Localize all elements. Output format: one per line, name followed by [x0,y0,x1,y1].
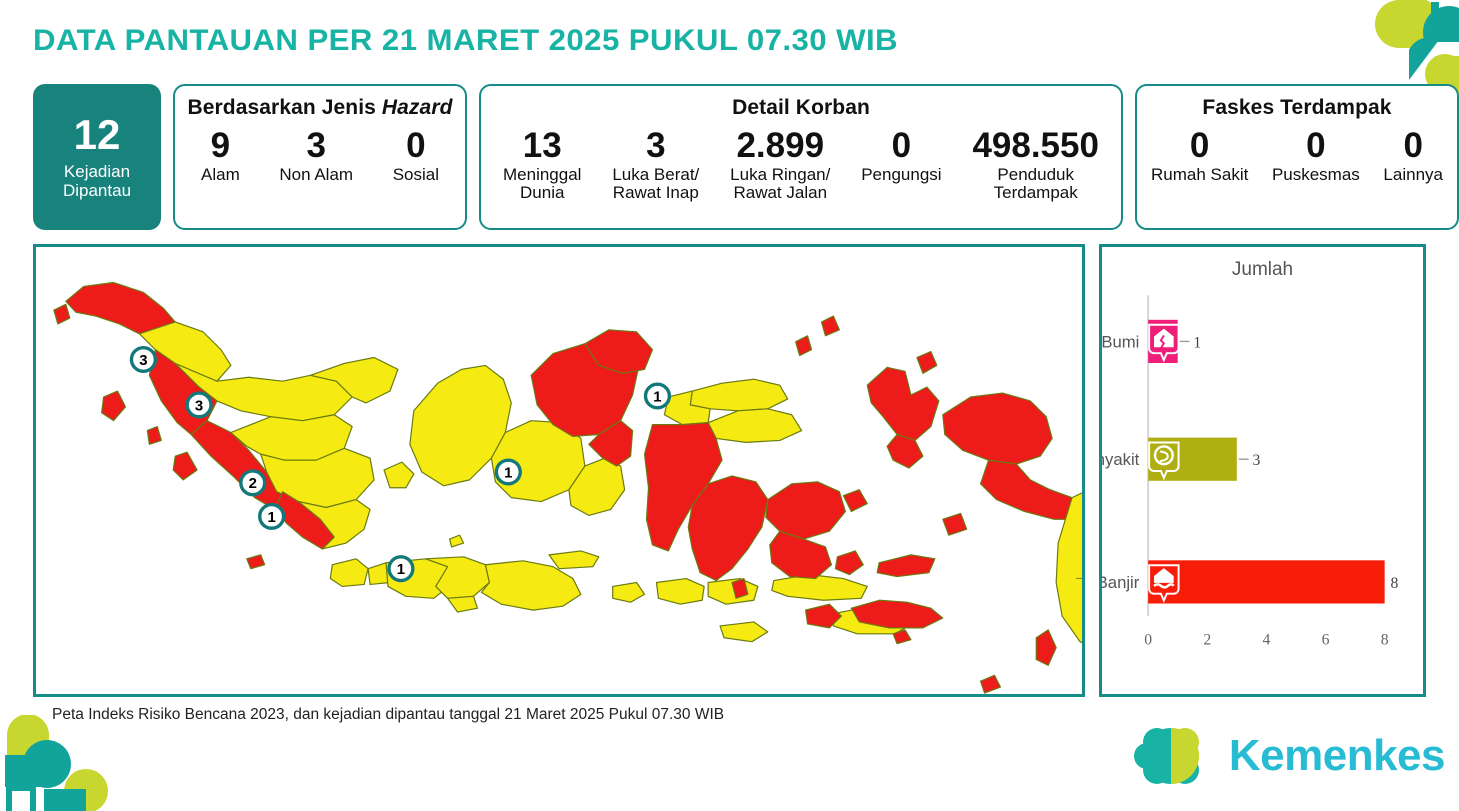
province-papua-barat-red [943,393,1052,464]
chart-x-axis-ticks: 02468 [1144,632,1389,649]
metric-luka-berat-label: Luka Berat/ Rawat Inap [612,166,699,203]
bar-2[interactable] [1148,560,1385,603]
metric-alam: 9 Alam [201,128,240,184]
island-sula [877,555,935,577]
metric-non-alam-label: Non Alam [279,166,353,185]
island-buton [835,551,863,575]
metric-non-alam-value: 3 [306,128,325,164]
card-detail-korban: Detail Korban 13 Meninggal Dunia 3 Luka … [479,84,1123,230]
page-title: DATA PANTAUAN PER 21 MARET 2025 PUKUL 07… [33,24,898,58]
metric-puskesmas-label: Puskesmas [1272,166,1360,185]
island-aru [1036,630,1056,666]
metric-pengungsi-value: 0 [892,128,911,164]
x-tick-4: 8 [1381,632,1389,649]
marker-aceh-count: 3 [139,353,147,369]
kemenkes-brand-text: Kemenkes [1229,731,1445,781]
island-halmahera-south [887,434,923,468]
marker-sulawesi-utara-count: 1 [653,389,661,405]
metric-luka-ringan-label-line1: Luka Ringan/ [730,165,830,184]
metric-meninggal-dunia-value: 13 [523,128,562,164]
card-korban-title: Detail Korban [481,96,1121,120]
footer-caption: Peta Indeks Risiko Bencana 2023, dan kej… [52,706,724,724]
kejadian-label: Kejadian Dipantau [63,162,131,200]
metric-rumah-sakit-value: 0 [1190,128,1209,164]
island-simeulue [54,304,70,324]
marker-lampung[interactable]: 1 [260,505,284,529]
province-bali [613,582,645,602]
province-sumba [720,622,768,642]
indonesia-risk-map[interactable]: 3321111 [36,247,1082,694]
metric-luka-berat-value: 3 [646,128,665,164]
bar-value-label-2: 8 [1391,575,1399,592]
map-panel-indonesia[interactable]: 3321111 [33,244,1085,697]
chart-panel-jumlah: Jumlah Gempa Bumi1KLB-Penyakit3Banjir8 0… [1099,244,1426,697]
map-land-shapes [54,283,1082,694]
hazard-metrics: 9 Alam 3 Non Alam 0 Sosial [175,128,465,184]
metric-meninggal-dunia-label: Meninggal Dunia [503,166,581,203]
province-madura [549,551,599,569]
card-hazard-title-emphasis: Hazard [382,96,453,119]
island-enggano [247,555,265,569]
korban-metrics: 13 Meninggal Dunia 3 Luka Berat/ Rawat I… [481,128,1121,203]
province-ntt-flores [772,575,867,601]
marker-jawa[interactable]: 1 [389,557,413,581]
island-nias [102,391,126,421]
faskes-metrics: 0 Rumah Sakit 0 Puskesmas 0 Lainnya [1137,128,1457,184]
card-kejadian-dipantau: 12 Kejadian Dipantau [33,84,161,230]
chart-bars-group[interactable]: Gempa Bumi1KLB-Penyakit3Banjir8 [1102,320,1399,604]
island-sangihe [796,336,812,356]
metric-sosial: 0 Sosial [393,128,439,184]
metric-puskesmas-value: 0 [1306,128,1325,164]
x-tick-1: 2 [1203,632,1211,649]
card-hazard-title: Berdasarkan Jenis Hazard [175,96,465,120]
metric-penduduk-terdampak-value: 498.550 [972,128,1099,164]
province-sulteng-east-red [766,482,846,539]
metric-sosial-value: 0 [406,128,425,164]
metric-penduduk-terdampak-label-line1: Penduduk [997,165,1074,184]
marker-aceh[interactable]: 3 [131,348,155,372]
marker-sumsel-count: 2 [249,476,257,492]
metric-lainnya-value: 0 [1403,128,1422,164]
x-tick-2: 4 [1262,632,1270,649]
marker-sulawesi-utara[interactable]: 1 [646,384,670,408]
metric-meninggal-dunia-label-line2: Dunia [520,183,564,202]
metric-lainnya-label: Lainnya [1383,166,1443,185]
province-banten [330,559,368,587]
island-mentawai-2 [173,452,197,480]
x-tick-3: 6 [1322,632,1330,649]
marker-sumut[interactable]: 3 [187,393,211,417]
metric-rumah-sakit: 0 Rumah Sakit [1151,128,1248,184]
province-maluku-utara-halmahera [867,367,939,440]
metric-alam-value: 9 [211,128,230,164]
kemenkes-logo-icon [1127,719,1219,793]
kejadian-label-line2: Dipantau [63,181,131,200]
metric-penduduk-terdampak: 498.550 Penduduk Terdampak [972,128,1099,203]
province-sulut [690,379,787,411]
card-faskes-terdampak: Faskes Terdampak 0 Rumah Sakit 0 Puskesm… [1135,84,1459,230]
island-mentawai-1 [147,427,161,445]
bar-category-label-1: KLB-Penyakit [1102,450,1140,469]
x-tick-0: 0 [1144,632,1152,649]
card-hazard-title-prefix: Berdasarkan Jenis [187,96,381,119]
metric-luka-ringan-label-line2: Rawat Jalan [733,183,827,202]
marker-lampung-count: 1 [267,510,275,526]
metric-meninggal-dunia: 13 Meninggal Dunia [503,128,581,203]
marker-kalimantan-count: 1 [504,465,512,481]
metric-luka-ringan-label: Luka Ringan/ Rawat Jalan [730,166,830,203]
province-bangka-belitung [384,462,414,488]
island-banggai [843,490,867,512]
island-karimunjawa [450,535,464,547]
card-berdasarkan-jenis-hazard: Berdasarkan Jenis Hazard 9 Alam 3 Non Al… [173,84,467,230]
bar-value-label-1: 3 [1253,452,1261,469]
marker-kalimantan[interactable]: 1 [496,460,520,484]
kejadian-label-line1: Kejadian [64,162,130,181]
metric-puskesmas: 0 Puskesmas [1272,128,1360,184]
metric-pengungsi: 0 Pengungsi [861,128,941,184]
metric-luka-berat: 3 Luka Berat/ Rawat Inap [612,128,699,203]
marker-sumsel[interactable]: 2 [241,471,265,495]
kemenkes-brand: Kemenkes [1127,719,1445,793]
decorative-petals-top-right [1339,0,1459,96]
island-kei [981,675,1001,693]
metric-luka-ringan: 2.899 Luka Ringan/ Rawat Jalan [730,128,830,203]
metric-luka-ringan-value: 2.899 [736,128,824,164]
metric-lainnya: 0 Lainnya [1383,128,1443,184]
province-papua-barat-birdhead2 [981,460,1082,519]
metric-alam-label: Alam [201,166,240,185]
metric-penduduk-terdampak-label: Penduduk Terdampak [994,166,1078,203]
bar-category-label-2: Banjir [1102,573,1140,592]
province-sultra-red [770,531,832,578]
metric-non-alam: 3 Non Alam [279,128,353,184]
province-ntb [656,579,704,605]
kejadian-count: 12 [74,114,121,156]
card-faskes-title: Faskes Terdampak [1137,96,1457,120]
metric-luka-berat-label-line1: Luka Berat/ [612,165,699,184]
bar-category-label-0: Gempa Bumi [1102,332,1139,351]
metric-rumah-sakit-label: Rumah Sakit [1151,166,1248,185]
marker-sumut-count: 3 [195,398,203,414]
island-obi [943,513,967,535]
metric-sosial-label: Sosial [393,166,439,185]
hazard-bar-chart[interactable]: Gempa Bumi1KLB-Penyakit3Banjir8 02468 [1102,247,1423,694]
island-morotai [917,352,937,374]
metric-pengungsi-label: Pengungsi [861,166,941,185]
decorative-petals-bottom-left [0,715,128,811]
island-talaud [821,316,839,336]
metric-luka-berat-label-line2: Rawat Inap [613,183,699,202]
province-diy [448,596,478,612]
metric-penduduk-terdampak-label-line2: Terdampak [994,183,1078,202]
metric-meninggal-dunia-label-line1: Meninggal [503,165,581,184]
province-sulteng-north [708,409,801,443]
marker-jawa-count: 1 [397,562,405,578]
bar-value-label-0: 1 [1193,334,1201,351]
